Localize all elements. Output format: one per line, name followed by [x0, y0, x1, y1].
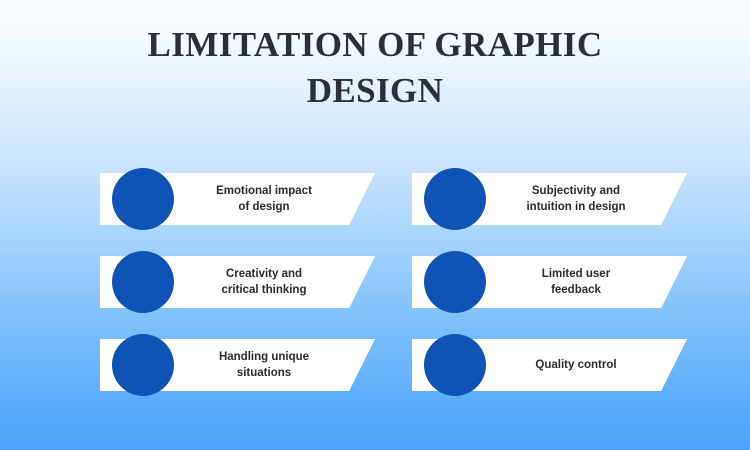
card-label: Handling unique situations	[180, 339, 348, 391]
card-label: Quality control	[492, 339, 660, 391]
slide-canvas: LIMITATION OF GRAPHIC DESIGN Emotional i…	[0, 0, 750, 450]
blue-circle-icon	[424, 168, 486, 230]
blue-circle-icon	[424, 251, 486, 313]
limitation-card[interactable]: Subjectivity and intuition in design	[412, 173, 687, 225]
card-label: Emotional impact of design	[180, 173, 348, 225]
blue-circle-icon	[112, 168, 174, 230]
card-label: Subjectivity and intuition in design	[492, 173, 660, 225]
limitation-card[interactable]: Creativity and critical thinking	[100, 256, 375, 308]
card-label: Creativity and critical thinking	[180, 256, 348, 308]
limitation-card-grid: Emotional impact of design Subjectivity …	[0, 0, 750, 450]
blue-circle-icon	[424, 334, 486, 396]
blue-circle-icon	[112, 251, 174, 313]
limitation-card[interactable]: Quality control	[412, 339, 687, 391]
limitation-card[interactable]: Limited user feedback	[412, 256, 687, 308]
card-label: Limited user feedback	[492, 256, 660, 308]
limitation-card[interactable]: Emotional impact of design	[100, 173, 375, 225]
limitation-card[interactable]: Handling unique situations	[100, 339, 375, 391]
blue-circle-icon	[112, 334, 174, 396]
